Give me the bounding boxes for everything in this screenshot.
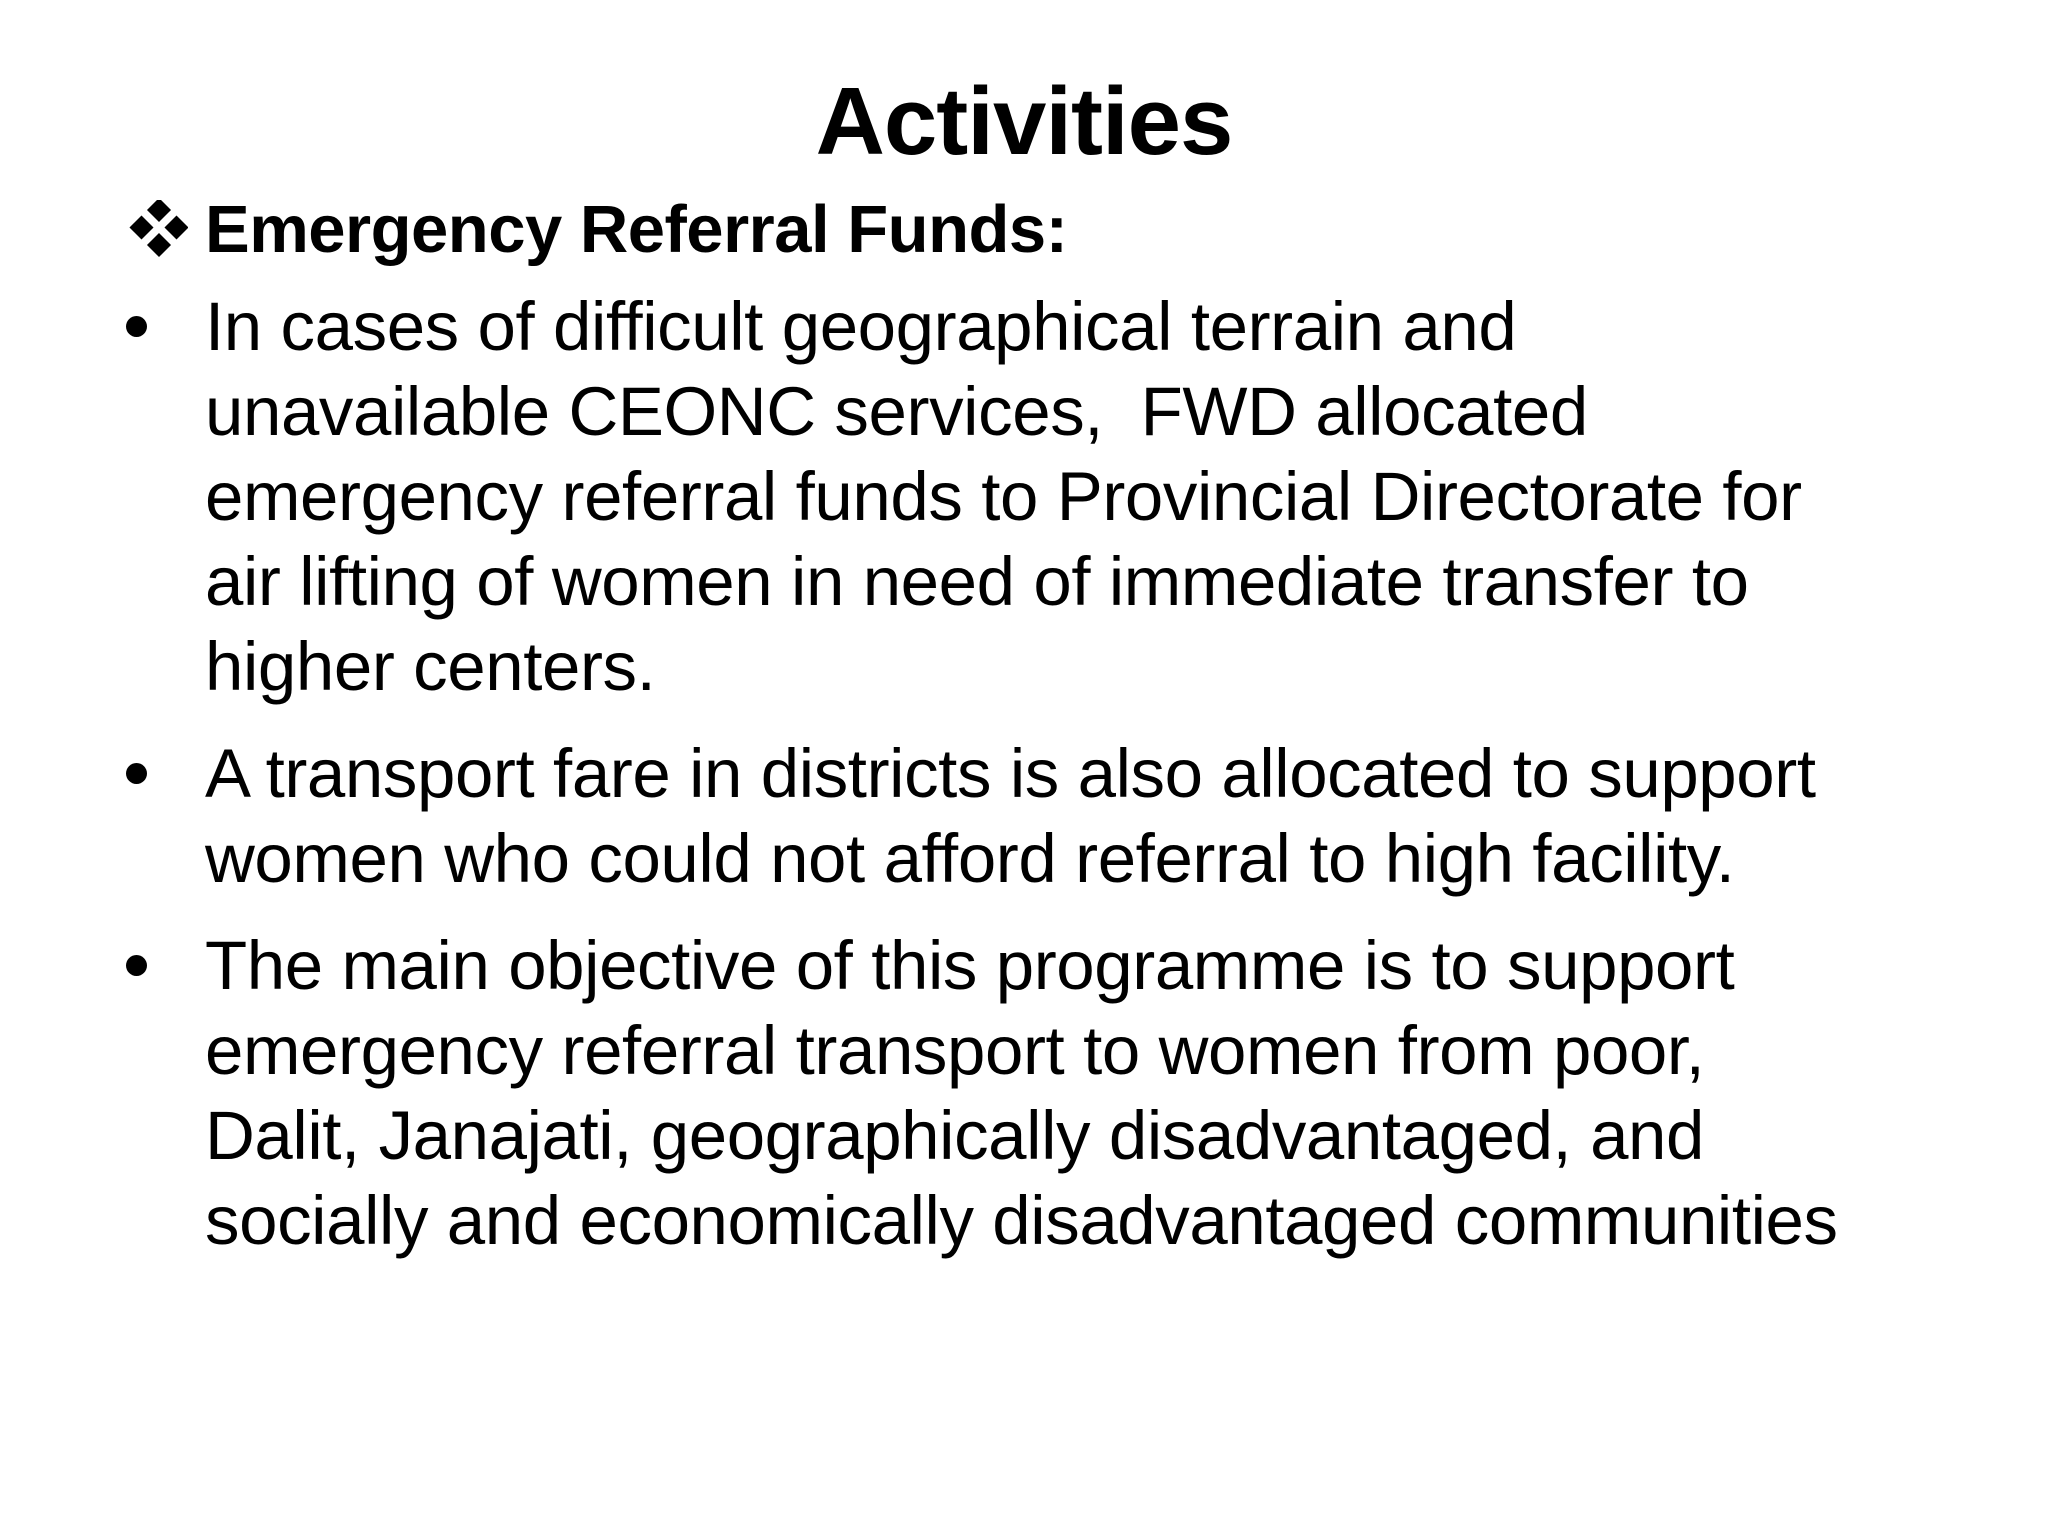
diamond-cluster-icon: [128, 200, 188, 260]
list-item-text: In cases of difficult geographical terra…: [205, 284, 1853, 709]
list-item: In cases of difficult geographical terra…: [0, 284, 2048, 709]
round-dot-icon: [126, 316, 147, 337]
heading-item-emergency-referral-funds: Emergency Referral Funds:: [0, 190, 2048, 270]
list-item-text: A transport fare in districts is also al…: [205, 731, 1853, 901]
heading-label: Emergency Referral Funds:: [205, 190, 2048, 270]
round-dot-icon: [126, 955, 147, 976]
list-item: The main objective of this programme is …: [0, 923, 2048, 1263]
page-title: Activities: [0, 74, 2048, 170]
presentation-slide: Activities Emergency Referral Funds: In …: [0, 0, 2048, 1536]
list-item: A transport fare in districts is also al…: [0, 731, 2048, 901]
round-dot-icon: [126, 763, 147, 784]
list-item-text: The main objective of this programme is …: [205, 923, 1853, 1263]
slide-body: Emergency Referral Funds: In cases of di…: [0, 190, 2048, 1263]
